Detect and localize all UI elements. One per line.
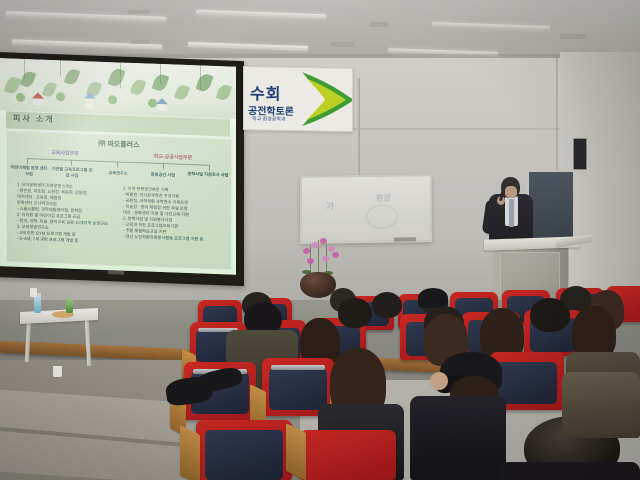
orchid-bloom-2 — [312, 242, 319, 248]
ceiling — [0, 0, 640, 62]
whiteboard-mark-1: 가 — [326, 199, 334, 212]
whiteboard-marker-tray — [394, 237, 416, 241]
orchid-bloom-3 — [320, 238, 327, 244]
audience-hand-1 — [430, 372, 448, 390]
audience-head-9 — [530, 298, 570, 332]
slide-org-box-5: 창학사업 지원조사 사업 — [187, 171, 229, 178]
water-bottle — [34, 295, 41, 313]
orchid-bloom-6 — [322, 256, 329, 262]
slide-header-graphic — [0, 58, 236, 119]
ceiling-vent-2 — [330, 42, 354, 47]
banner-line-3: 학교 환경공학과 — [252, 115, 286, 123]
orchid-bloom-7 — [332, 252, 339, 258]
projection-screen: 피사 소개 ㈜ 파오플러스 교육사업부문 학교·공공사업부문 어린이체험 운영 … — [0, 58, 236, 275]
doorway[interactable] — [527, 170, 575, 240]
ceiling-light-4 — [196, 10, 326, 20]
ceiling-light-7 — [388, 48, 498, 56]
ceiling-vent-3 — [560, 34, 586, 39]
lecture-hall-photo: 피사 소개 ㈜ 파오플러스 교육사업부문 학교·공공사업부문 어린이체험 운영 … — [0, 0, 640, 480]
projection-screen-frame: 피사 소개 ㈜ 파오플러스 교육사업부문 학교·공공사업부문 어린이체험 운영 … — [0, 52, 244, 286]
paper-cup-2 — [53, 366, 62, 377]
slide-org-box-3: 교육연구소 — [99, 170, 137, 177]
whiteboard-surface[interactable]: 가 환경 — [304, 178, 428, 240]
orchid-bloom-1 — [303, 248, 310, 254]
audience-torso-5 — [500, 462, 640, 480]
audience-head-3 — [372, 292, 402, 318]
banner-line-1: 수회 — [250, 80, 281, 105]
screen-pull-handle[interactable] — [108, 270, 124, 275]
audience-head-7 — [338, 298, 372, 328]
green-bottle — [66, 299, 73, 313]
seat-row4-2[interactable] — [300, 430, 396, 480]
audience-torso-6 — [562, 372, 640, 438]
ceiling-fixture-8 — [128, 10, 150, 14]
presenter-tie — [509, 199, 514, 227]
slide-group-right: 학교·공공사업부문 — [135, 152, 211, 162]
slide-org-box-2: 기관별 교육프로그램 공급 사업 — [51, 166, 93, 179]
whiteboard-mark-2: 환경 — [376, 193, 391, 204]
slide-title: 피사 소개 — [13, 113, 55, 126]
ceiling-fixture-9 — [130, 40, 150, 44]
slide-org-box-4: 문화공간 사업 — [143, 171, 183, 178]
presenter-face — [505, 186, 517, 198]
whiteboard-frame: 가 환경 — [300, 174, 432, 244]
slide-bullets-left: 1. 유아문화센터 직영운영 5개소 - 평촌점, 마포점, 노원점, 목동점,… — [17, 182, 113, 246]
ceiling-light-6 — [432, 22, 550, 30]
event-banner: 수회 공전학토론 학교 환경공학과 — [243, 66, 353, 132]
audience-torso-4 — [410, 396, 506, 480]
armrest-7 — [286, 423, 306, 480]
slide-body: ㈜ 파오플러스 교육사업부문 학교·공공사업부문 어린이체험 운영 센터 사업 … — [6, 130, 232, 270]
slide-org-box-1: 어린이체험 운영 센터 사업 — [9, 164, 49, 176]
orchid-bloom-5 — [307, 258, 314, 264]
armrest-6 — [180, 425, 200, 480]
paper-cup-1 — [30, 288, 37, 297]
ceiling-light-5 — [188, 42, 308, 51]
banner-chevron-logo — [300, 70, 353, 129]
slide-bullets-right: 1. 지역 문화공간부문 기획 - 박물관, 전시관과학관 구성기획 - 공원점… — [123, 186, 227, 244]
slide-group-left: 교육사업부문 — [29, 148, 101, 158]
audience-cap-1 — [418, 288, 448, 308]
wall-speaker-icon — [573, 138, 587, 170]
banner-support-pole — [357, 78, 360, 176]
ceiling-vent-1 — [370, 22, 388, 27]
